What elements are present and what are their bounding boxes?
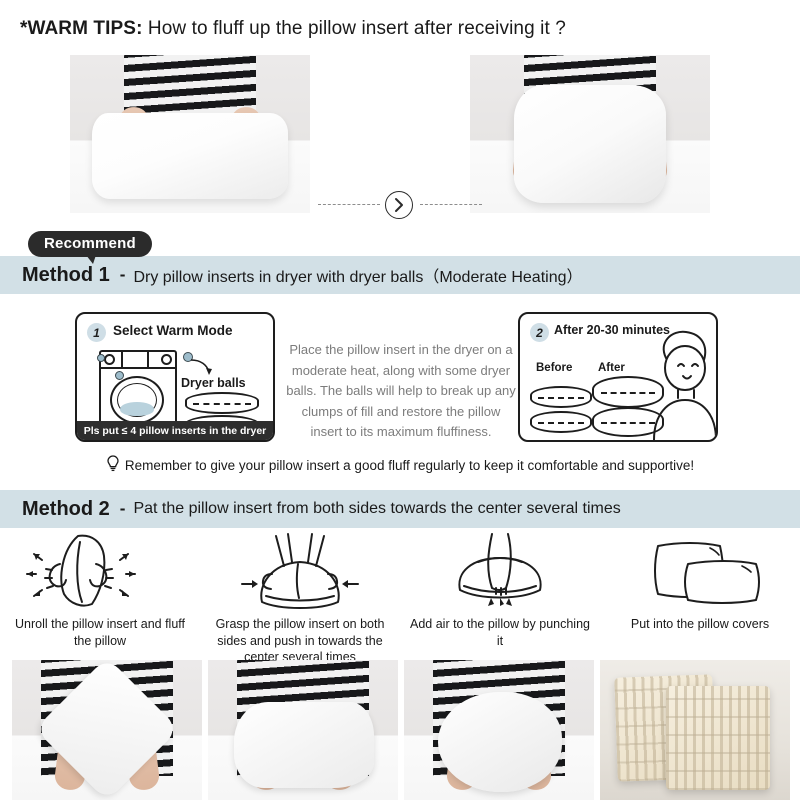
two-pillows-icon: [600, 530, 800, 614]
photo-punch-pillow: [404, 660, 594, 800]
bottom-photo-row: [0, 660, 800, 800]
top-photo-row: [0, 55, 800, 215]
pillow-squished: [234, 702, 374, 788]
page-title: *WARM TIPS: How to fluff up the pillow i…: [20, 18, 566, 40]
flat-pillow-outline-icon: [530, 411, 592, 433]
dryer-machine-icon: [99, 350, 177, 428]
dryer-card-title: Select Warm Mode: [113, 323, 233, 338]
step-number-badge: 2: [530, 323, 549, 342]
headline-separator: :: [136, 18, 142, 39]
dash-line-left: [318, 204, 380, 205]
corduroy-cushion: [666, 686, 770, 790]
hands-push-inward-icon: [200, 530, 400, 614]
hands-unroll-pillow-icon: [0, 530, 200, 614]
flat-pillow: [92, 113, 288, 199]
dash-line-right: [420, 204, 482, 205]
pillow-fluffed: [438, 692, 562, 792]
method-2-dash: -: [120, 499, 126, 519]
fluffed-pillow: [514, 85, 666, 203]
curved-arrow-icon: [189, 358, 217, 378]
drum-door: [110, 376, 164, 424]
step-caption: Grasp the pillow insert on both sides an…: [206, 616, 394, 666]
reminder-line: Remember to give your pillow insert a go…: [0, 455, 800, 475]
after-label: After: [598, 362, 625, 374]
step-item: Unroll the pillow insert and fluff the p…: [0, 530, 200, 650]
hands-punch-pillow-icon: [400, 530, 600, 614]
method-2-banner: Method 2 - Pat the pillow insert from bo…: [0, 490, 800, 528]
step-caption: Unroll the pillow insert and fluff the p…: [6, 616, 194, 649]
photo-scene: [70, 55, 310, 213]
dial-icon: [104, 354, 115, 365]
dial-icon: [161, 354, 172, 365]
photo-scene: [404, 660, 594, 800]
photo-scene: [208, 660, 398, 800]
photo-before: [70, 55, 310, 213]
photo-unroll-pillow: [12, 660, 202, 800]
before-label: Before: [536, 362, 572, 374]
dryer-balls-label: Dryer balls: [181, 376, 246, 390]
step-caption: Add air to the pillow by punching it: [406, 616, 594, 649]
photo-push-inward: [208, 660, 398, 800]
headline-prefix: *WARM TIPS: [20, 18, 136, 39]
photo-pillow-covers: [600, 660, 790, 800]
photo-divider: [318, 190, 482, 220]
step-item: Add air to the pillow by punching it: [400, 530, 600, 650]
method-2-label: Method 2: [22, 498, 110, 521]
photo-after: [470, 55, 710, 213]
photo-scene: [470, 55, 710, 213]
panel-divider: [147, 350, 149, 369]
dryer-capacity-note: Pls put ≤ 4 pillow inserts in the dryer: [77, 421, 273, 440]
sofa-background: [600, 660, 790, 800]
pillow-outline-icon: [185, 392, 259, 414]
lightbulb-icon: [106, 455, 120, 475]
method-1-dash: -: [120, 265, 126, 285]
method-1-paragraph: Place the pillow insert in the dryer on …: [285, 340, 517, 443]
method-1-description: Dry pillow inserts in dryer with dryer b…: [133, 263, 582, 287]
step-item: Grasp the pillow insert on both sides an…: [200, 530, 400, 650]
result-card: 2 After 20-30 minutes Before After: [518, 312, 718, 442]
infographic-page: *WARM TIPS: How to fluff up the pillow i…: [0, 0, 800, 800]
method-1-label: Method 1: [22, 264, 110, 287]
drum-contents: [120, 402, 154, 416]
flat-pillow-outline-icon: [530, 386, 592, 408]
step-item: Put into the pillow covers: [600, 530, 800, 650]
reminder-text: Remember to give your pillow insert a go…: [125, 458, 694, 473]
dryer-ball-icon: [115, 371, 124, 380]
chevron-right-circle-icon: [385, 191, 413, 219]
panel-divider: [121, 350, 123, 369]
person-illustration-icon: [648, 328, 718, 440]
method-2-description: Pat the pillow insert from both sides to…: [133, 500, 620, 518]
dryer-ball-icon: [97, 354, 105, 362]
photo-scene: [12, 660, 202, 800]
method-2-steps: Unroll the pillow insert and fluff the p…: [0, 530, 800, 650]
step-number-badge: 1: [87, 323, 106, 342]
method-1-banner: Method 1 - Dry pillow inserts in dryer w…: [0, 256, 800, 294]
headline-question: How to fluff up the pillow insert after …: [148, 18, 566, 39]
dryer-card: 1 Select Warm Mode: [75, 312, 275, 442]
step-caption: Put into the pillow covers: [606, 616, 794, 633]
recommend-badge: Recommend: [28, 231, 152, 257]
